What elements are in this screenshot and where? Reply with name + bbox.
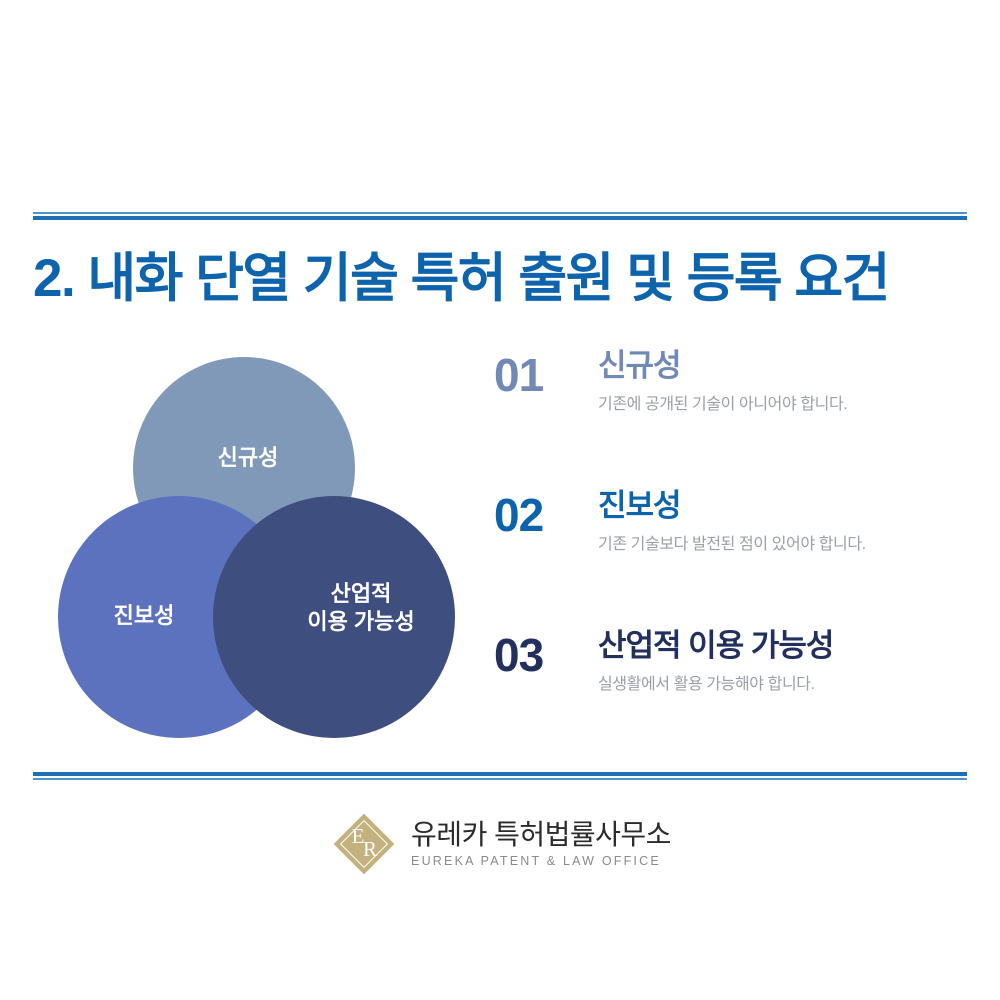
venn-label-industrial: 산업적 이용 가능성 [276,580,446,635]
company-name: 유레카 특허법률사무소 [411,820,671,851]
venn-label-novelty: 신규성 [188,444,308,472]
monogram-letter-r: R [363,837,377,861]
company-subtitle: EUREKA PATENT & LAW OFFICE [411,854,671,868]
footer-text-block: 유레카 특허법률사무소 EUREKA PATENT & LAW OFFICE [411,820,671,868]
requirement-body-03: 산업적 이용 가능성 실생활에서 활용 가능해야 합니다. [598,628,968,694]
requirements-list: 01 신규성 기존에 공개된 기술이 아니어야 합니다. 02 진보성 기존 기… [494,348,964,768]
requirement-title-02: 진보성 [598,488,968,524]
requirement-description-03: 실생활에서 활용 가능해야 합니다. [598,670,968,694]
requirement-item-03: 03 산업적 이용 가능성 실생활에서 활용 가능해야 합니다. [494,628,964,768]
slide-root: 2. 내화 단열 기술 특허 출원 및 등록 요건 신규성 진보성 산업적 이용… [0,0,1000,1000]
divider-top [33,212,967,220]
requirement-number-02: 02 [494,492,543,538]
requirement-title-01: 신규성 [598,348,968,384]
venn-label-industrial-line1: 산업적 [276,580,446,608]
requirement-description-01: 기존에 공개된 기술이 아니어야 합니다. [598,390,968,414]
divider-bottom [33,772,967,780]
requirement-number-01: 01 [494,352,543,398]
page-title: 2. 내화 단열 기술 특허 출원 및 등록 요건 [33,236,967,312]
requirement-body-02: 진보성 기존 기술보다 발전된 점이 있어야 합니다. [598,488,968,554]
requirement-title-03: 산업적 이용 가능성 [598,628,968,664]
diamond-monogram-icon: E R [329,809,399,879]
requirement-item-02: 02 진보성 기존 기술보다 발전된 점이 있어야 합니다. [494,488,964,628]
requirement-number-03: 03 [494,632,543,678]
divider-bottom-thin-line [33,778,967,780]
venn-diagram: 신규성 진보성 산업적 이용 가능성 [40,340,460,750]
diamond-monogram-svg: E R [329,809,399,879]
venn-label-industrial-line2: 이용 가능성 [276,608,446,636]
venn-label-inventiveness: 진보성 [84,602,204,630]
requirement-body-01: 신규성 기존에 공개된 기술이 아니어야 합니다. [598,348,968,414]
requirement-description-02: 기존 기술보다 발전된 점이 있어야 합니다. [598,530,968,554]
footer-logo: E R 유레카 특허법률사무소 EUREKA PATENT & LAW OFFI… [0,806,1000,882]
requirement-item-01: 01 신규성 기존에 공개된 기술이 아니어야 합니다. [494,348,964,488]
divider-top-thick-line [33,216,967,220]
venn-svg [40,340,460,750]
